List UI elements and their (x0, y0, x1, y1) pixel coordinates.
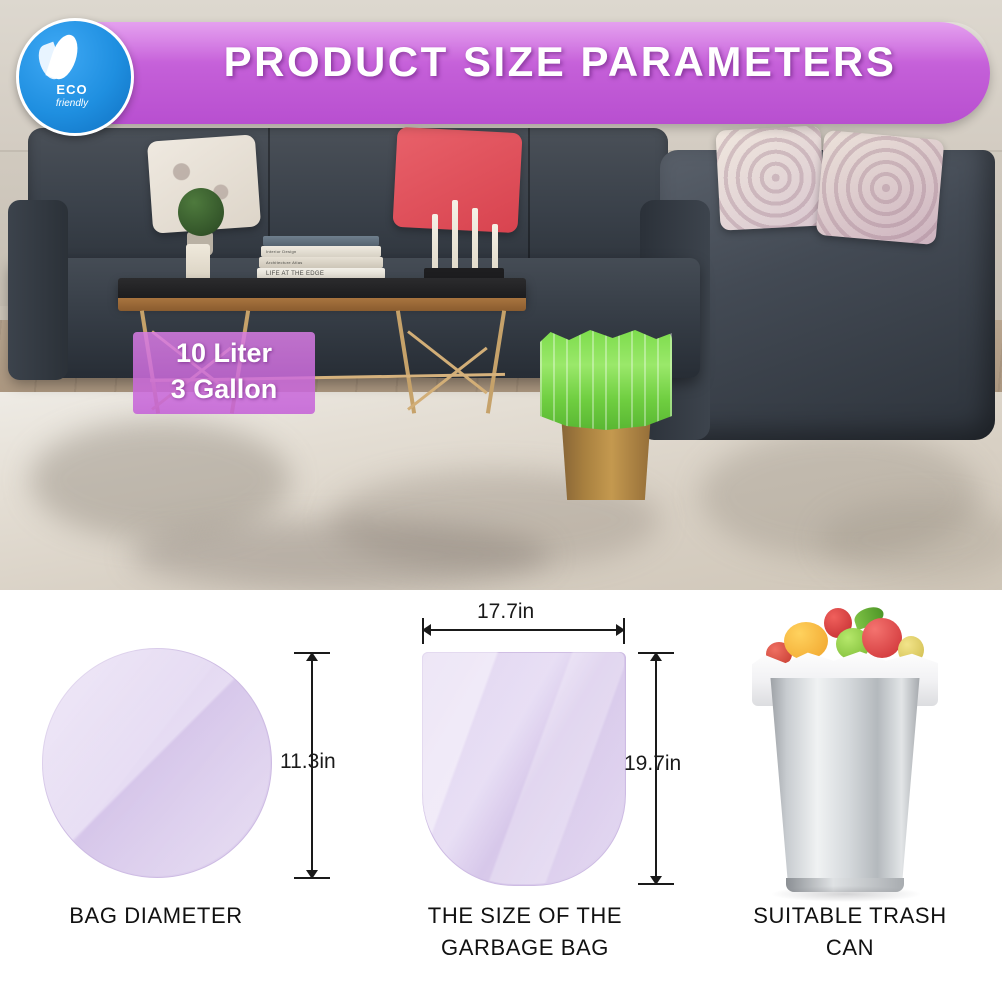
coffee-table-edge (118, 298, 526, 311)
bag-width-tick-left (422, 618, 424, 644)
pillow-pattern (715, 125, 825, 230)
page-title: PRODUCT SIZE PARAMETERS (160, 38, 960, 86)
pillow-pattern (816, 130, 945, 245)
capacity-liters: 10 Liter (133, 338, 315, 369)
eco-badge-sublabel: friendly (16, 98, 128, 109)
rug-pattern (130, 520, 550, 590)
potted-plant (178, 188, 224, 236)
candle (472, 208, 478, 272)
eco-badge (16, 18, 134, 136)
food-waste-item (862, 618, 902, 658)
book-title-1: Interior Design (266, 249, 297, 254)
capacity-gallons: 3 Gallon (133, 374, 315, 405)
bag-diameter-value: 11.3in (280, 750, 336, 774)
suitable-trash-can-caption-line2: CAN (700, 932, 1000, 964)
candle (432, 214, 438, 272)
floral-pillow (715, 125, 825, 230)
book-title-2: Architecture Atlas (266, 260, 303, 265)
bag-height-tick-bottom (638, 883, 674, 885)
diameter-tick-top (294, 652, 330, 654)
garbage-bag-folds (422, 652, 624, 884)
rug-pattern (30, 420, 290, 540)
size-diagram-section: 11.3in BAG DIAMETER 17.7in 19.7in THE SI… (0, 590, 1002, 984)
bag-height-value: 19.7in (624, 752, 681, 776)
garbage-bag-caption-line1: THE SIZE OF THE (370, 900, 680, 932)
eco-badge-label: ECO (16, 82, 128, 97)
suitable-trash-can (764, 678, 926, 888)
garbage-bag-caption: THE SIZE OF THE GARBAGE BAG (370, 900, 680, 964)
sofa-seam (528, 128, 530, 273)
book-title-3: LIFE AT THE EDGE (266, 271, 324, 277)
bag-width-dimension-line (430, 629, 616, 631)
swirl-pillow (816, 130, 945, 245)
bag-width-value: 17.7in (477, 600, 534, 624)
diameter-tick-bottom (294, 877, 330, 879)
book-stack-item (263, 236, 379, 246)
suitable-trash-can-caption-line1: SUITABLE TRASH (700, 900, 1000, 932)
suitable-trash-can-caption: SUITABLE TRASH CAN (700, 900, 1000, 964)
candle-jar (186, 244, 210, 282)
lifestyle-photo: Interior Design Architecture Atlas LIFE … (0, 0, 1002, 590)
green-garbage-bag-texture (540, 330, 672, 430)
bag-width-tick-right (623, 618, 625, 644)
candle (452, 200, 458, 272)
bag-diameter-circle-sheen (42, 648, 270, 876)
bag-diameter-caption: BAG DIAMETER (20, 900, 292, 932)
sofa-left-arm (8, 200, 68, 380)
candle (492, 224, 498, 272)
bag-height-tick-top (638, 652, 674, 654)
garbage-bag-caption-line2: GARBAGE BAG (370, 932, 680, 964)
